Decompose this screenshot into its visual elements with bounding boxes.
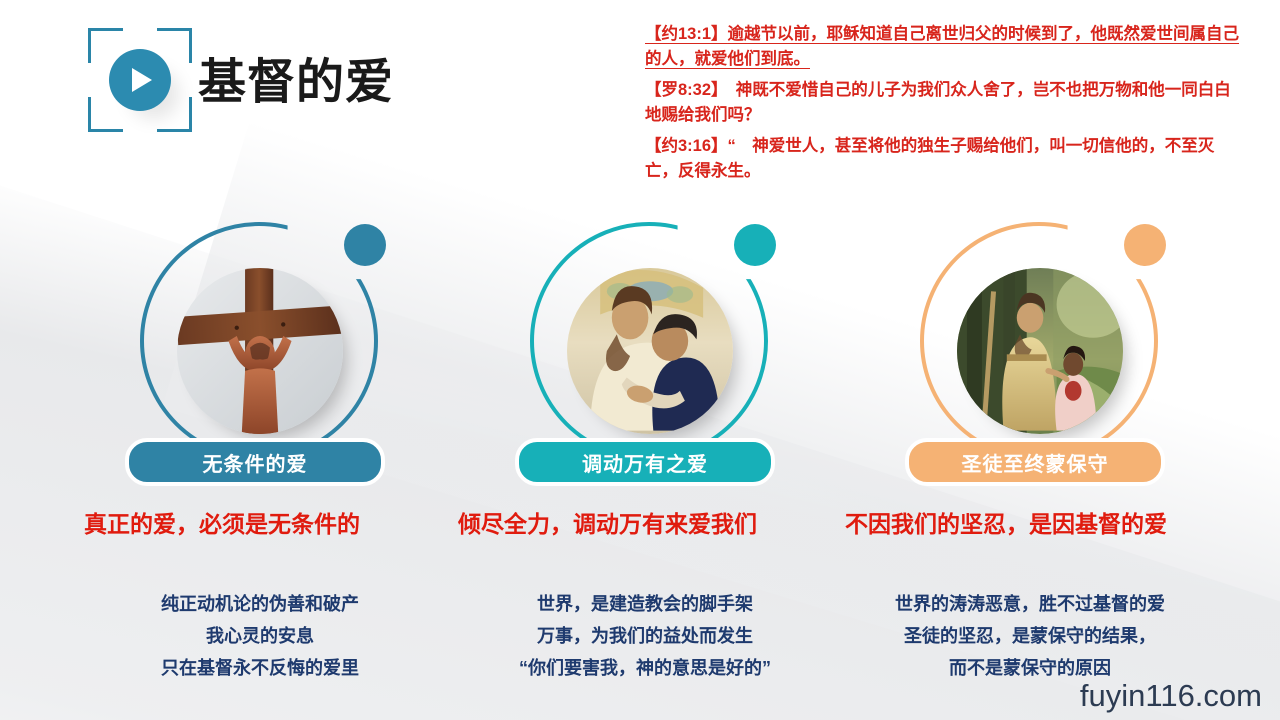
card-ring-dot-3 [1124, 224, 1166, 266]
logo-frame-gap-right [189, 63, 194, 97]
crucifixion-photo [177, 268, 343, 434]
column-body-line: 圣徒的坚忍，是蒙保守的结果， [840, 620, 1220, 652]
jesus-comforting-man-photo [567, 268, 733, 434]
column-body-line: 只在基督永不反悔的爱里 [100, 652, 420, 684]
logo [88, 28, 192, 132]
jesus-with-child-photo [957, 268, 1123, 434]
column-headline-2: 倾尽全力，调动万有来爱我们 [458, 505, 757, 539]
card-pill-2[interactable]: 调动万有之爱 [515, 438, 775, 486]
play-triangle-icon [132, 68, 152, 92]
concept-card-3[interactable]: 圣徒至终蒙保守 [910, 222, 1170, 480]
column-body-line: 纯正动机论的伪善和破产 [100, 588, 420, 620]
verse-text-2: 神既不爱惜自己的儿子为我们众人舍了，岂不也把万物和他一同白白地赐给我们吗？ [645, 81, 1231, 124]
column-body-line: “你们要害我，神的意思是好的” [480, 652, 810, 684]
column-body-3: 世界的涛涛恶意，胜不过基督的爱 圣徒的坚忍，是蒙保守的结果， 而不是蒙保守的原因 [840, 588, 1220, 684]
logo-frame-gap-left [86, 63, 91, 97]
card-ring-dot-2 [734, 224, 776, 266]
play-button-icon [109, 49, 171, 111]
card-pill-1[interactable]: 无条件的爱 [125, 438, 385, 486]
verse-ref-3: 【约3:16】 [645, 137, 728, 155]
column-body-line: 我心灵的安息 [100, 620, 420, 652]
verse-ref-2: 【罗8:32】 [645, 81, 719, 99]
column-headline-1: 真正的爱，必须是无条件的 [84, 505, 360, 539]
verse-text-1: 逾越节以前，耶稣知道自己离世归父的时候到了，他既然爱世间属自己的人，就爱他们到底… [645, 25, 1239, 68]
logo-frame-gap-bottom [123, 129, 157, 134]
card-pill-label-3: 圣徒至终蒙保守 [962, 448, 1109, 477]
verse-text-3: “ 神爱世人，甚至将他的独生子赐给他们，叫一切信他的，不至灭亡，反得永生。 [645, 137, 1214, 180]
concept-card-1[interactable]: 无条件的爱 [130, 222, 390, 480]
page-title: 基督的爱 [198, 42, 394, 112]
concept-card-2[interactable]: 调动万有之爱 [520, 222, 780, 480]
card-pill-3[interactable]: 圣徒至终蒙保守 [905, 438, 1165, 486]
presentation-slide: 基督的爱 【约13:1】逾越节以前，耶稣知道自己离世归父的时候到了，他既然爱世间… [0, 0, 1280, 720]
column-body-line: 万事，为我们的益处而发生 [480, 620, 810, 652]
scripture-verse-1: 【约13:1】逾越节以前，耶稣知道自己离世归父的时候到了，他既然爱世间属自己的人… [645, 22, 1245, 72]
column-body-line: 世界，是建造教会的脚手架 [480, 588, 810, 620]
column-body-line: 世界的涛涛恶意，胜不过基督的爱 [840, 588, 1220, 620]
scripture-verse-3: 【约3:16】“ 神爱世人，甚至将他的独生子赐给他们，叫一切信他的，不至灭亡，反… [645, 134, 1245, 184]
logo-frame-gap-top [123, 26, 157, 31]
column-body-1: 纯正动机论的伪善和破产 我心灵的安息 只在基督永不反悔的爱里 [100, 588, 420, 684]
card-pill-label-1: 无条件的爱 [203, 448, 308, 477]
scripture-verse-2: 【罗8:32】 神既不爱惜自己的儿子为我们众人舍了，岂不也把万物和他一同白白地赐… [645, 78, 1245, 128]
column-headline-3: 不因我们的坚忍，是因基督的爱 [845, 505, 1167, 539]
card-pill-label-2: 调动万有之爱 [582, 448, 708, 477]
card-ring-dot-1 [344, 224, 386, 266]
verse-ref-1: 【约13:1】 [645, 25, 728, 43]
scripture-block: 【约13:1】逾越节以前，耶稣知道自己离世归父的时候到了，他既然爱世间属自己的人… [645, 22, 1245, 190]
site-watermark: fuyin116.com [1080, 678, 1262, 714]
column-body-2: 世界，是建造教会的脚手架 万事，为我们的益处而发生 “你们要害我，神的意思是好的… [480, 588, 810, 684]
